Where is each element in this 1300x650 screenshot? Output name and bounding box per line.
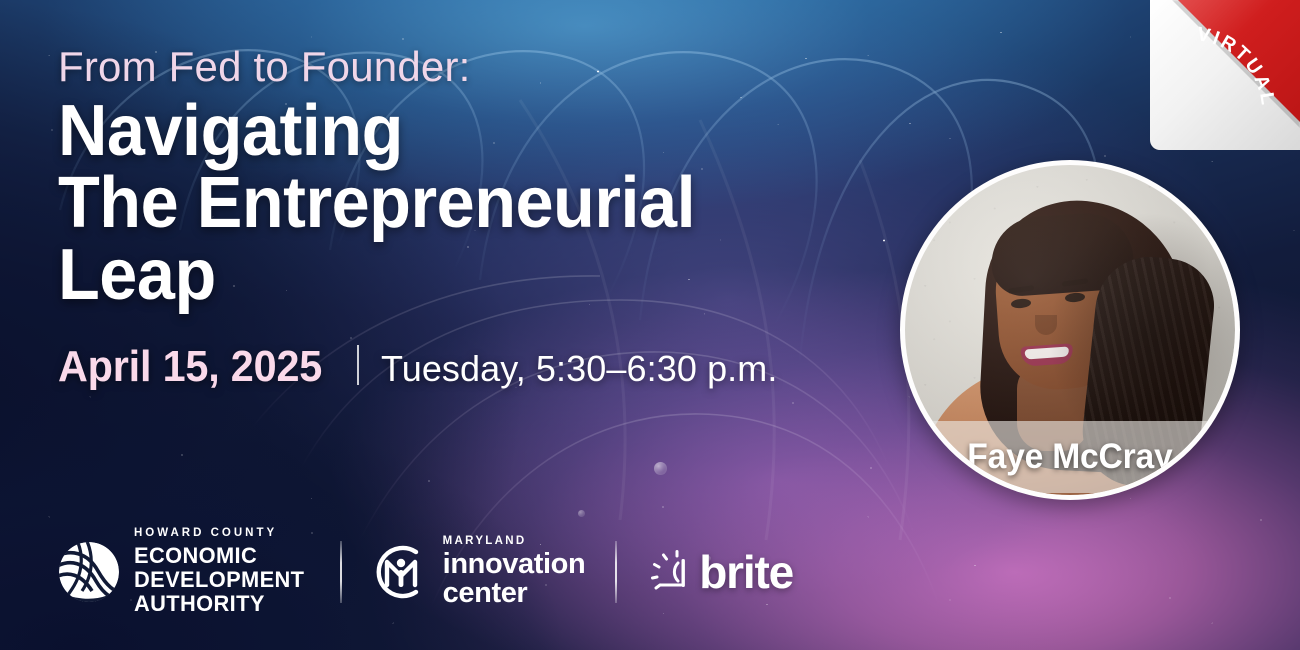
brite-sun-icon bbox=[647, 549, 693, 595]
logo-divider bbox=[615, 541, 617, 603]
page-title: Navigating The Entrepreneurial Leap bbox=[58, 95, 847, 311]
event-date: April 15, 2025 bbox=[58, 342, 322, 392]
hceda-circle-mark bbox=[58, 541, 120, 603]
headline-line-1: Navigating bbox=[58, 95, 847, 167]
event-time: Tuesday, 5:30–6:30 p.m. bbox=[381, 348, 778, 390]
hceda-wordmark: HOWARD COUNTY ECONOMIC DEVELOPMENT AUTHO… bbox=[134, 528, 310, 615]
hceda-line-2: DEVELOPMENT bbox=[134, 568, 304, 592]
mic-line-2: center bbox=[443, 579, 586, 608]
logo-howard-county-economic-development-authority[interactable]: HOWARD COUNTY ECONOMIC DEVELOPMENT AUTHO… bbox=[58, 528, 310, 615]
speaker-card: Faye McCray bbox=[900, 160, 1240, 500]
event-promo-banner: From Fed to Founder: Navigating The Entr… bbox=[0, 0, 1300, 650]
status-badge: VIRTUAL bbox=[1150, 0, 1300, 150]
hceda-line-3: AUTHORITY bbox=[134, 592, 304, 616]
partner-logo-row: HOWARD COUNTY ECONOMIC DEVELOPMENT AUTHO… bbox=[58, 530, 793, 614]
speaker-name-band: Faye McCray bbox=[905, 421, 1235, 493]
logo-brite[interactable]: brite bbox=[647, 549, 793, 595]
bokeh-bubble bbox=[578, 510, 585, 517]
ribbon-label-text: VIRTUAL bbox=[1195, 23, 1279, 109]
event-dateline: April 15, 2025 Tuesday, 5:30–6:30 p.m. bbox=[58, 341, 888, 392]
headline-block: From Fed to Founder: Navigating The Entr… bbox=[58, 44, 888, 392]
headline-line-3: Leap bbox=[58, 239, 847, 311]
ribbon-text-arc: VIRTUAL bbox=[1150, 0, 1300, 150]
logo-maryland-innovation-center[interactable]: MARYLAND innovation center bbox=[372, 536, 586, 609]
headline-line-2: The Entrepreneurial bbox=[58, 167, 847, 239]
mic-monogram-mark bbox=[372, 543, 430, 601]
brite-wordmark: brite bbox=[699, 549, 793, 595]
avatar: Faye McCray bbox=[900, 160, 1240, 500]
eyebrow-text: From Fed to Founder: bbox=[58, 44, 888, 89]
logo-divider bbox=[340, 541, 342, 603]
hceda-line-1: ECONOMIC bbox=[134, 544, 304, 568]
hceda-eyebrow: HOWARD COUNTY bbox=[134, 528, 310, 540]
bokeh-bubble bbox=[654, 462, 667, 475]
speaker-name: Faye McCray bbox=[967, 437, 1172, 477]
dateline-divider bbox=[357, 345, 359, 385]
mic-wordmark: MARYLAND innovation center bbox=[443, 536, 586, 609]
mic-eyebrow: MARYLAND bbox=[443, 536, 586, 548]
mic-line-1: innovation bbox=[443, 550, 586, 579]
